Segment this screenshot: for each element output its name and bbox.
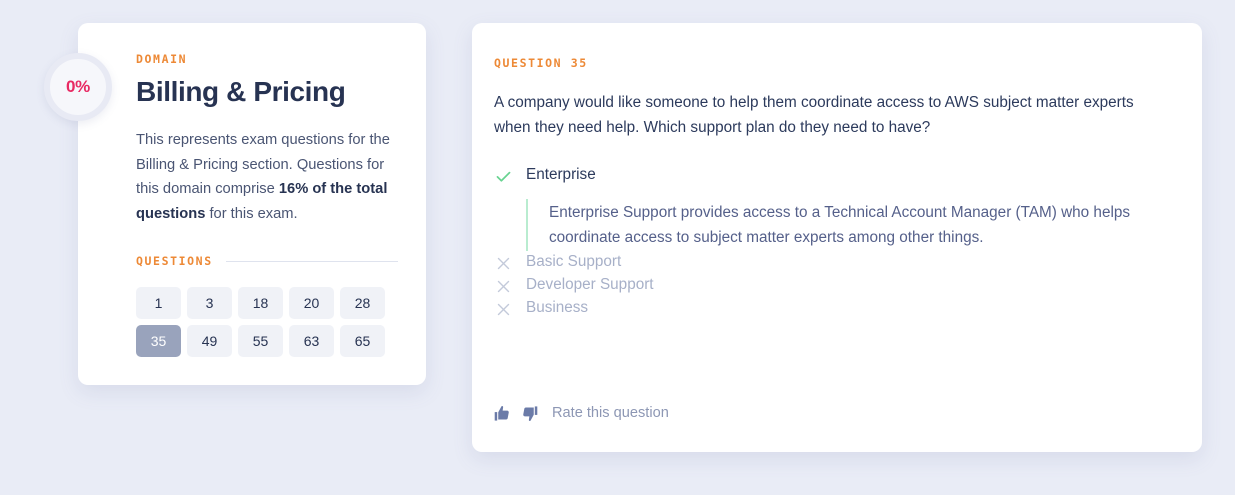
rate-question-row: Rate this question xyxy=(493,404,669,422)
questions-divider xyxy=(226,261,398,262)
score-badge-value: 0% xyxy=(66,77,90,97)
question-number-button[interactable]: 20 xyxy=(289,287,334,319)
answer-option-label: Enterprise xyxy=(526,164,596,186)
answer-option[interactable]: EnterpriseEnterprise Support provides ac… xyxy=(494,164,1172,251)
question-number-button[interactable]: 28 xyxy=(340,287,385,319)
question-number-button[interactable]: 18 xyxy=(238,287,283,319)
answer-option[interactable]: Developer Support xyxy=(494,274,1172,297)
question-number-button[interactable]: 3 xyxy=(187,287,232,319)
question-number-button[interactable]: 55 xyxy=(238,325,283,357)
answer-option-label: Basic Support xyxy=(526,251,621,273)
answer-option-label: Developer Support xyxy=(526,274,654,296)
domain-eyebrow-label: DOMAIN xyxy=(136,52,398,66)
question-number-button[interactable]: 49 xyxy=(187,325,232,357)
answer-option-label: Business xyxy=(526,297,588,319)
question-number-button[interactable]: 35 xyxy=(136,325,181,357)
answer-list: EnterpriseEnterprise Support provides ac… xyxy=(494,164,1172,320)
rate-question-label: Rate this question xyxy=(552,405,669,421)
cross-icon xyxy=(494,252,512,274)
question-number-label: QUESTION 35 xyxy=(494,56,1172,70)
answer-option-row[interactable]: Developer Support xyxy=(494,274,1172,297)
domain-card: 0% DOMAIN Billing & Pricing This represe… xyxy=(78,23,426,385)
question-card: QUESTION 35 A company would like someone… xyxy=(472,23,1202,452)
answer-option-row[interactable]: Enterprise xyxy=(494,164,1172,187)
answer-explanation: Enterprise Support provides access to a … xyxy=(526,199,1172,251)
answer-option-row[interactable]: Business xyxy=(494,297,1172,320)
question-text: A company would like someone to help the… xyxy=(494,90,1154,140)
thumbs-down-icon[interactable] xyxy=(520,404,538,422)
check-icon xyxy=(494,165,512,187)
page-root: 0% DOMAIN Billing & Pricing This represe… xyxy=(0,0,1235,495)
question-number-grid: 131820283549556365 xyxy=(136,287,398,357)
cross-icon xyxy=(494,275,512,297)
thumbs-up-icon[interactable] xyxy=(493,404,511,422)
question-number-button[interactable]: 65 xyxy=(340,325,385,357)
questions-section-header: QUESTIONS xyxy=(136,254,398,268)
cross-icon xyxy=(494,298,512,320)
domain-title: Billing & Pricing xyxy=(136,76,398,108)
answer-option[interactable]: Business xyxy=(494,297,1172,320)
answer-option[interactable]: Basic Support xyxy=(494,251,1172,274)
question-number-button[interactable]: 63 xyxy=(289,325,334,357)
questions-label: QUESTIONS xyxy=(136,254,213,268)
domain-description-part2: for this exam. xyxy=(205,206,297,222)
domain-card-content: DOMAIN Billing & Pricing This represents… xyxy=(78,23,426,357)
domain-description: This represents exam questions for the B… xyxy=(136,128,398,226)
score-badge: 0% xyxy=(44,53,112,121)
answer-option-row[interactable]: Basic Support xyxy=(494,251,1172,274)
question-number-button[interactable]: 1 xyxy=(136,287,181,319)
